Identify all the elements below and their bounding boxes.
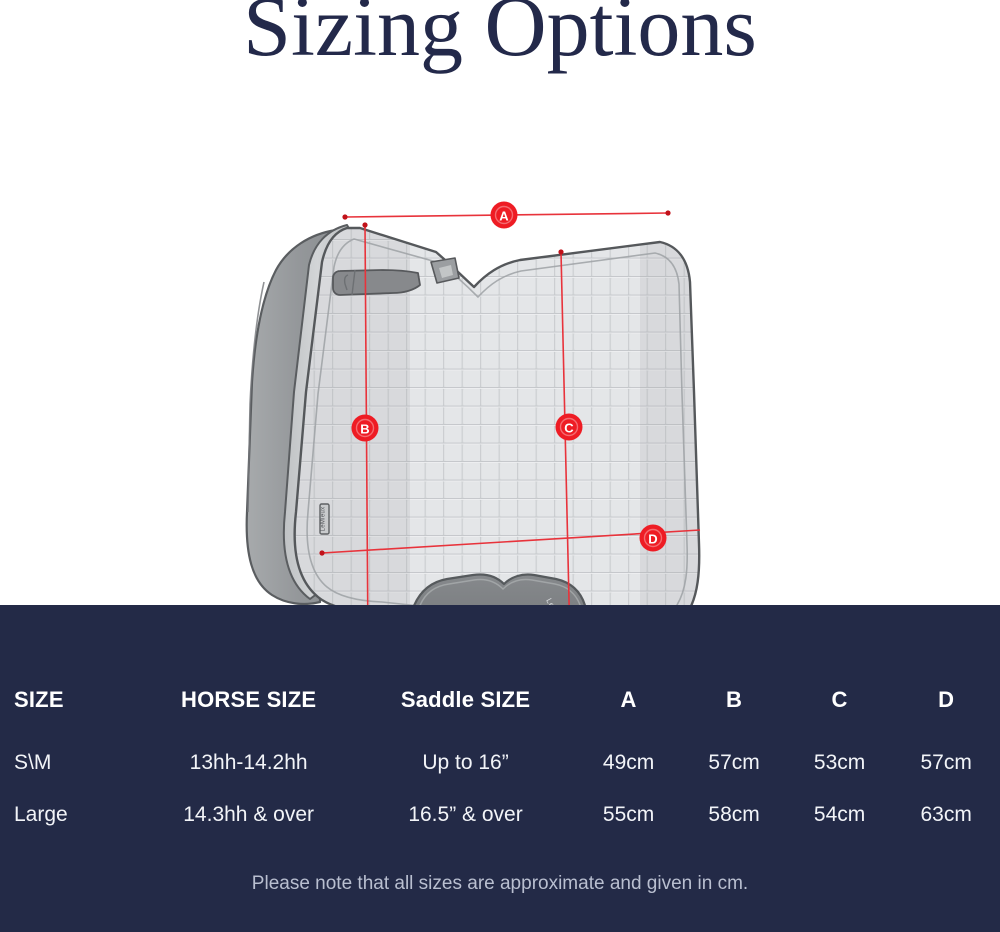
cell-b: 58cm <box>681 789 786 841</box>
column-header-b: B <box>681 663 786 737</box>
marker-d-label: D <box>648 532 657 547</box>
cell-d: 63cm <box>892 789 1000 841</box>
marker-c: C <box>556 414 583 441</box>
column-header-a: A <box>576 663 681 737</box>
cell-a: 49cm <box>576 737 681 789</box>
size-table-panel: SIZE HORSE SIZE Saddle SIZE A B C D S\M … <box>0 605 1000 932</box>
cell-c: 53cm <box>787 737 892 789</box>
marker-d: D <box>640 525 667 552</box>
column-header-size: SIZE <box>0 663 142 737</box>
saddle-pad-svg: LeMieux LeMieux <box>0 92 1000 605</box>
sizes-approximate-note: Please note that all sizes are approxima… <box>0 873 1000 895</box>
girth-strap-slot <box>333 270 420 295</box>
marker-c-label: C <box>564 421 574 436</box>
marker-b-label: B <box>360 422 369 437</box>
marker-a: A <box>491 202 518 229</box>
wither-logo-tab <box>431 258 459 283</box>
table-header-row: SIZE HORSE SIZE Saddle SIZE A B C D <box>0 663 1000 737</box>
cell-horse-size: 14.3hh & over <box>142 789 355 841</box>
column-header-c: C <box>787 663 892 737</box>
cell-size: Large <box>0 789 142 841</box>
table-row: S\M 13hh-14.2hh Up to 16” 49cm 57cm 53cm… <box>0 737 1000 789</box>
cell-c: 54cm <box>787 789 892 841</box>
size-table-head: SIZE HORSE SIZE Saddle SIZE A B C D <box>0 605 1000 737</box>
column-header-saddle-size: Saddle SIZE <box>355 663 576 737</box>
table-row: Large 14.3hh & over 16.5” & over 55cm 58… <box>0 789 1000 841</box>
saddle-pad-diagram: LeMieux LeMieux <box>0 92 1000 605</box>
cell-b: 57cm <box>681 737 786 789</box>
cell-a: 55cm <box>576 789 681 841</box>
marker-a-label: A <box>499 209 509 224</box>
side-brand-tab: LeMieux <box>320 504 329 534</box>
side-brand-tab-label: LeMieux <box>321 507 327 532</box>
cell-d: 57cm <box>892 737 1000 789</box>
title-area: Sizing Options <box>0 0 1000 92</box>
cell-horse-size: 13hh-14.2hh <box>142 737 355 789</box>
cell-saddle-size: Up to 16” <box>355 737 576 789</box>
column-header-horse-size: HORSE SIZE <box>142 663 355 737</box>
cell-size: S\M <box>0 737 142 789</box>
sizing-options-infographic: Sizing Options <box>0 0 1000 932</box>
column-header-d: D <box>892 663 1000 737</box>
marker-b: B <box>352 415 379 442</box>
cell-saddle-size: 16.5” & over <box>355 789 576 841</box>
page-title: Sizing Options <box>0 0 1000 76</box>
size-table-body: S\M 13hh-14.2hh Up to 16” 49cm 57cm 53cm… <box>0 737 1000 841</box>
size-table: SIZE HORSE SIZE Saddle SIZE A B C D S\M … <box>0 605 1000 841</box>
